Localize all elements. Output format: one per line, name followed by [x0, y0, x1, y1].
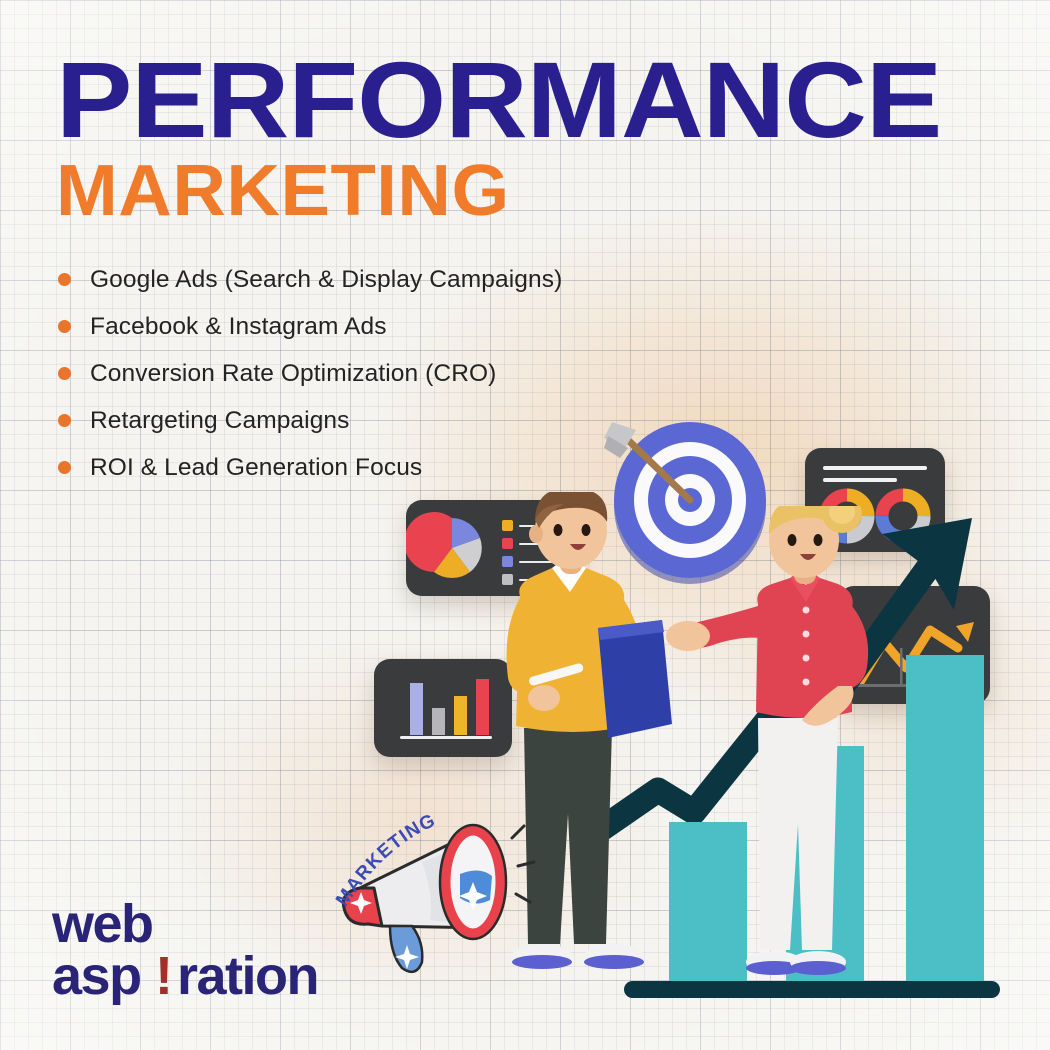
list-item-label: ROI & Lead Generation Focus — [90, 454, 422, 482]
woman-svg — [666, 506, 896, 986]
bullet-dot-icon — [58, 273, 71, 286]
list-item-label: Conversion Rate Optimization (CRO) — [90, 360, 496, 388]
list-item-label: Retargeting Campaigns — [90, 407, 350, 435]
brand-logo-svg: web asp ! ration — [52, 898, 352, 1008]
megaphone-svg: MARKETING — [326, 796, 536, 982]
list-item: Retargeting Campaigns — [58, 397, 562, 444]
list-item: Facebook & Instagram Ads — [58, 303, 562, 350]
bullet-dot-icon — [58, 414, 71, 427]
bullet-dot-icon — [58, 461, 71, 474]
logo-exclaim-icon: ! — [155, 946, 173, 1006]
woman-presenting — [666, 506, 896, 986]
logo-line-2-before: asp — [52, 946, 141, 1006]
list-item: ROI & Lead Generation Focus — [58, 444, 562, 491]
logo-line-2-after: ration — [177, 946, 318, 1006]
headline-block: PERFORMANCE MARKETING — [56, 50, 891, 226]
list-item-label: Google Ads (Search & Display Campaigns) — [90, 266, 562, 294]
megaphone-illustration: MARKETING — [326, 796, 536, 982]
bullet-dot-icon — [58, 367, 71, 380]
poster-canvas: MARKETING PERFORMANCE MARKETING Google A… — [0, 0, 1050, 1050]
page-subtitle: MARKETING — [56, 157, 916, 225]
list-item: Conversion Rate Optimization (CRO) — [58, 350, 562, 397]
brand-logo[interactable]: web asp ! ration — [52, 898, 352, 1013]
list-item: Google Ads (Search & Display Campaigns) — [58, 256, 562, 303]
teal-bar-3 — [906, 655, 984, 984]
list-item-label: Facebook & Instagram Ads — [90, 313, 387, 341]
page-title: PERFORMANCE — [56, 50, 941, 149]
bullet-dot-icon — [58, 320, 71, 333]
service-list: Google Ads (Search & Display Campaigns) … — [58, 256, 562, 491]
